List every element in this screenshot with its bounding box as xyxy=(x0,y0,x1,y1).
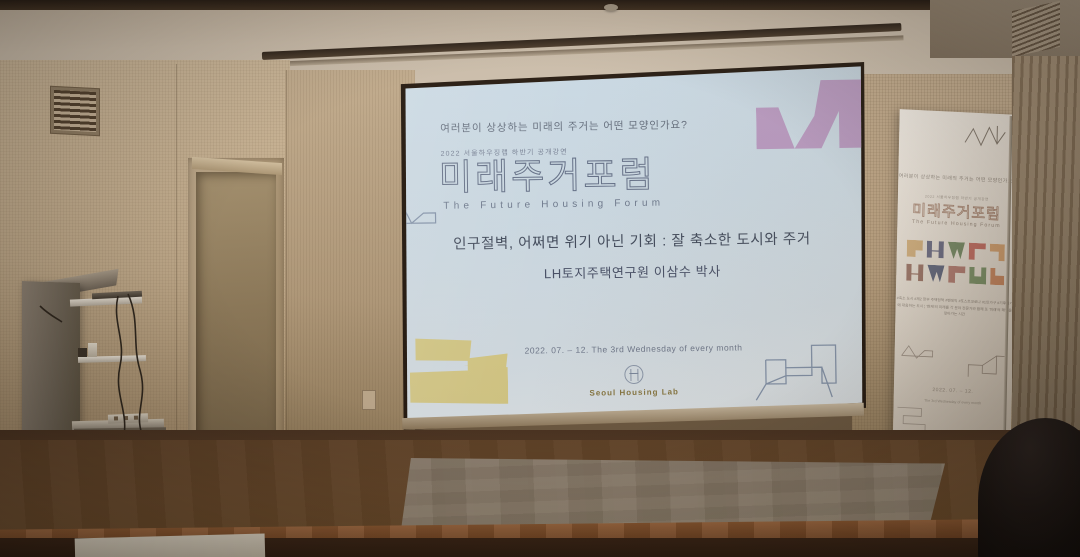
wall-outlet-plate xyxy=(362,390,376,410)
slide-subtitle: The Future Housing Forum xyxy=(443,198,664,212)
slide-speaker: LH토지주택연구원 이삼수 박사 xyxy=(398,259,866,285)
roll-up-banner: 여러분이 상상하는 미래의 주거는 어떤 모양인가요? 2022 서울하우징랩 … xyxy=(892,109,1017,467)
wall-air-vent xyxy=(50,86,100,137)
wall-seam xyxy=(286,70,287,448)
wall-center xyxy=(285,70,415,450)
window-curtain xyxy=(1012,56,1080,456)
purple-zigzag-shape xyxy=(756,76,866,152)
ceiling-top-edge xyxy=(0,0,1080,10)
projection-screen: 여러분이 상상하는 미래의 주거는 어떤 모양인가요? 2022 서울하우징랩 … xyxy=(398,62,866,430)
presentation-slide: 여러분이 상상하는 미래의 주거는 어떤 모양인가요? 2022 서울하우징랩 … xyxy=(398,62,866,430)
foreground-paper xyxy=(75,534,266,557)
lecture-hall-photo: 여러분이 상상하는 미래의 주거는 어떤 모양인가요? 2022 서울하우징랩 … xyxy=(0,0,1080,557)
vent-slats xyxy=(54,90,96,132)
banner-lighting xyxy=(892,109,1017,467)
slide-title: 미래주거포럼 xyxy=(439,157,656,196)
slide-headline: 인구절벽, 어쩌면 위기 아닌 기회 : 잘 축소한 도시와 주거 xyxy=(398,227,866,255)
smoke-detector-icon xyxy=(604,4,618,11)
slide-question: 여러분이 상상하는 미래의 주거는 어떤 모양인가요? xyxy=(440,116,770,136)
seoul-housing-lab-logo-icon xyxy=(624,365,643,384)
logo-crossbar xyxy=(629,373,638,374)
screen-surface: 여러분이 상상하는 미래의 주거는 어떤 모양인가요? 2022 서울하우징랩 … xyxy=(398,62,866,430)
